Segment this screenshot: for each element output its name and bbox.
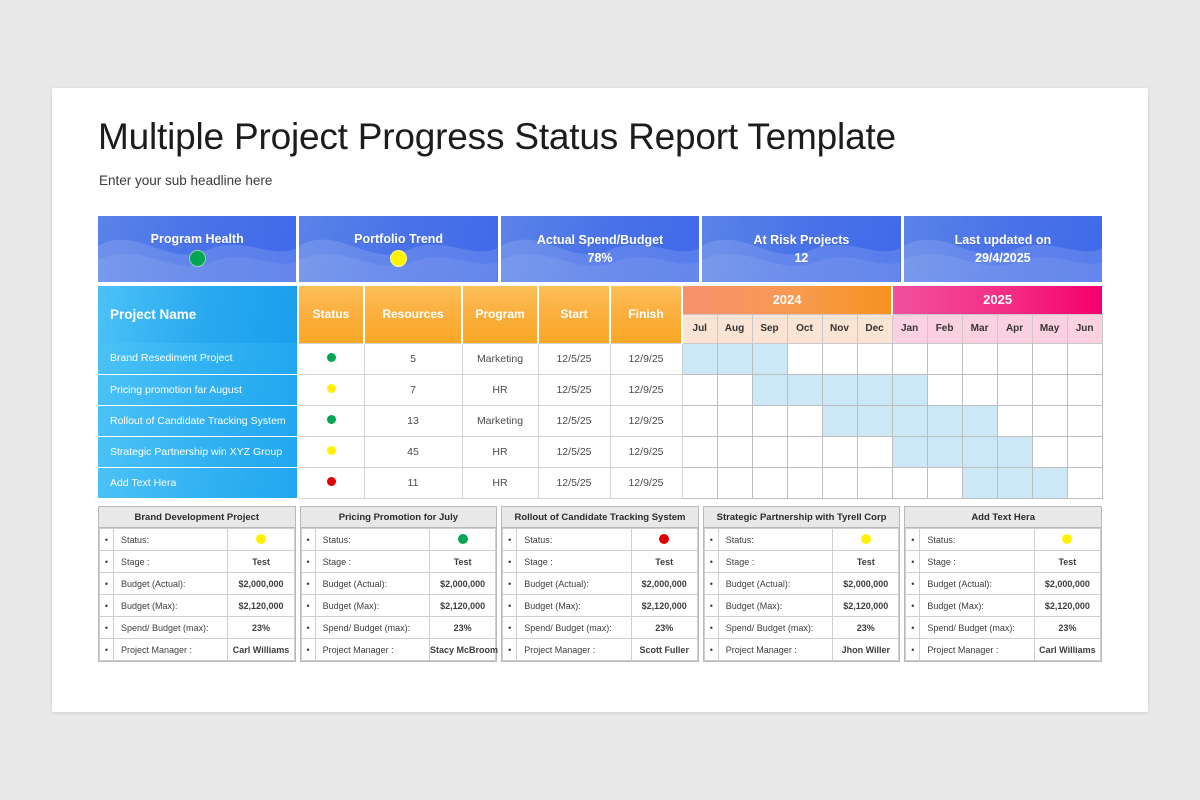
detail-label: Status: [920, 529, 1034, 551]
detail-value-spend-budget: 23% [228, 617, 294, 639]
detail-card-row: •Status: [100, 529, 295, 551]
gantt-row[interactable]: Brand Resediment Project5Marketing12/5/2… [98, 343, 1102, 374]
detail-label: Spend/ Budget (max): [718, 617, 832, 639]
gantt-program-cell: Marketing [462, 343, 538, 374]
header-status[interactable]: Status [298, 286, 364, 343]
gantt-empty-cell [1032, 436, 1067, 467]
gantt-project-name[interactable]: Pricing promotion far August [98, 374, 298, 405]
project-detail-card-row: Brand Development Project•Status:•Stage … [98, 506, 1102, 662]
bullet-icon: • [301, 573, 315, 595]
gantt-empty-cell [892, 467, 927, 498]
detail-card-row: •Status: [503, 529, 698, 551]
detail-card-row: •Budget (Actual):$2,000,000 [301, 573, 496, 595]
gantt-table: Project Name Status Resources Program St… [98, 286, 1103, 499]
detail-label: Spend/ Budget (max): [920, 617, 1034, 639]
gantt-row[interactable]: Pricing promotion far August7HR12/5/2512… [98, 374, 1102, 405]
header-month-aug-2024: Aug [717, 314, 752, 343]
header-year-2025: 2025 [892, 286, 1102, 314]
detail-value-budget-max: $2,120,000 [228, 595, 294, 617]
bullet-icon: • [704, 639, 718, 661]
kpi-status-dot-yellow [390, 250, 407, 267]
header-month-jul-2024: Jul [682, 314, 717, 343]
detail-card-row: •Budget (Max):$2,120,000 [100, 595, 295, 617]
detail-value-budget-max: $2,120,000 [1034, 595, 1100, 617]
kpi-label: Actual Spend/Budget [537, 233, 663, 247]
gantt-bar-segment [997, 436, 1032, 467]
kpi-card-row: Program HealthPortfolio TrendActual Spen… [98, 216, 1102, 282]
bullet-icon: • [301, 639, 315, 661]
gantt-empty-cell [1032, 374, 1067, 405]
gantt-start-cell: 12/5/25 [538, 374, 610, 405]
detail-value-project-manager: Stacy McBroom [430, 639, 496, 661]
page-title: Multiple Project Progress Status Report … [98, 116, 896, 158]
gantt-table-wrapper: Project Name Status Resources Program St… [98, 286, 1102, 499]
gantt-bar-segment [962, 405, 997, 436]
gantt-empty-cell [962, 343, 997, 374]
detail-status-dot-yellow [833, 529, 899, 551]
detail-status-dot-red [631, 529, 697, 551]
gantt-header-row-years: Project Name Status Resources Program St… [98, 286, 1102, 314]
detail-value-budget-actual: $2,000,000 [1034, 573, 1100, 595]
detail-label: Budget (Actual): [920, 573, 1034, 595]
detail-label: Spend/ Budget (max): [315, 617, 429, 639]
bullet-icon: • [100, 551, 114, 573]
detail-card-row: •Stage :Test [100, 551, 295, 573]
gantt-resources-cell: 13 [364, 405, 462, 436]
detail-value-project-manager: Carl Williams [1034, 639, 1100, 661]
gantt-row[interactable]: Strategic Partnership win XYZ Group45HR1… [98, 436, 1102, 467]
gantt-empty-cell [1067, 467, 1102, 498]
wave-decoration [299, 216, 497, 282]
gantt-empty-cell [1032, 343, 1067, 374]
status-dot-green [458, 534, 468, 544]
bullet-icon: • [704, 529, 718, 551]
bullet-icon: • [503, 573, 517, 595]
detail-card-row: •Stage :Test [704, 551, 899, 573]
gantt-empty-cell [857, 467, 892, 498]
detail-card-row: •Budget (Max):$2,120,000 [704, 595, 899, 617]
gantt-empty-cell [927, 374, 962, 405]
detail-label: Status: [718, 529, 832, 551]
gantt-finish-cell: 12/9/25 [610, 467, 682, 498]
detail-card-row: •Budget (Max):$2,120,000 [301, 595, 496, 617]
detail-card-table: •Status:•Stage :Test•Budget (Actual):$2,… [301, 528, 497, 661]
detail-label: Budget (Actual): [315, 573, 429, 595]
bullet-icon: • [100, 595, 114, 617]
detail-value-project-manager: Jhon Willer [833, 639, 899, 661]
detail-value-budget-actual: $2,000,000 [430, 573, 496, 595]
detail-label: Project Manager : [920, 639, 1034, 661]
header-month-may-2025: May [1032, 314, 1067, 343]
bullet-icon: • [704, 573, 718, 595]
detail-value-project-manager: Scott Fuller [631, 639, 697, 661]
kpi-value: 12 [794, 251, 808, 265]
detail-card-row: •Spend/ Budget (max):23% [100, 617, 295, 639]
detail-value-project-manager: Carl Williams [228, 639, 294, 661]
gantt-empty-cell [787, 405, 822, 436]
kpi-value: 78% [588, 251, 613, 265]
gantt-bar-segment [1032, 467, 1067, 498]
status-dot-yellow [256, 534, 266, 544]
header-program[interactable]: Program [462, 286, 538, 343]
kpi-status-dot-green [189, 250, 206, 267]
gantt-empty-cell [857, 343, 892, 374]
gantt-empty-cell [1067, 374, 1102, 405]
gantt-resources-cell: 7 [364, 374, 462, 405]
detail-card-row: •Project Manager :Carl Williams [100, 639, 295, 661]
gantt-empty-cell [997, 343, 1032, 374]
gantt-status-cell [298, 436, 364, 467]
gantt-empty-cell [1032, 405, 1067, 436]
header-start[interactable]: Start [538, 286, 610, 343]
detail-value-budget-actual: $2,000,000 [228, 573, 294, 595]
gantt-empty-cell [717, 467, 752, 498]
gantt-bar-segment [892, 405, 927, 436]
project-detail-card-4[interactable]: Strategic Partnership with Tyrell Corp•S… [703, 506, 901, 662]
gantt-status-cell [298, 343, 364, 374]
detail-card-row: •Stage :Test [301, 551, 496, 573]
header-resources[interactable]: Resources [364, 286, 462, 343]
gantt-bar-segment [997, 467, 1032, 498]
gantt-bar-segment [822, 374, 857, 405]
gantt-start-cell: 12/5/25 [538, 436, 610, 467]
kpi-card-1[interactable]: Program Health [98, 216, 296, 282]
gantt-program-cell: HR [462, 374, 538, 405]
gantt-empty-cell [927, 467, 962, 498]
gantt-empty-cell [997, 405, 1032, 436]
project-detail-card-2[interactable]: Pricing Promotion for July•Status:•Stage… [300, 506, 498, 662]
slide-canvas: Multiple Project Progress Status Report … [52, 88, 1148, 712]
detail-value-budget-max: $2,120,000 [833, 595, 899, 617]
header-month-apr-2025: Apr [997, 314, 1032, 343]
detail-card-table: •Status:•Stage :Test•Budget (Actual):$2,… [99, 528, 295, 661]
detail-card-row: •Stage :Test [906, 551, 1101, 573]
gantt-empty-cell [962, 374, 997, 405]
header-month-oct-2024: Oct [787, 314, 822, 343]
gantt-empty-cell [997, 374, 1032, 405]
detail-value-spend-budget: 23% [1034, 617, 1100, 639]
kpi-label: At Risk Projects [753, 233, 849, 247]
detail-label: Stage : [114, 551, 228, 573]
gantt-empty-cell [787, 436, 822, 467]
gantt-finish-cell: 12/9/25 [610, 343, 682, 374]
detail-value-budget-actual: $2,000,000 [833, 573, 899, 595]
bullet-icon: • [704, 595, 718, 617]
gantt-table-body: Brand Resediment Project5Marketing12/5/2… [98, 343, 1102, 498]
gantt-empty-cell [682, 467, 717, 498]
header-month-jun-2025: Jun [1067, 314, 1102, 343]
detail-card-row: •Budget (Max):$2,120,000 [503, 595, 698, 617]
detail-label: Stage : [517, 551, 631, 573]
detail-status-dot-yellow [228, 529, 294, 551]
detail-card-row: •Status: [301, 529, 496, 551]
gantt-project-name[interactable]: Strategic Partnership win XYZ Group [98, 436, 298, 467]
detail-card-table: •Status:•Stage :Test•Budget (Actual):$2,… [502, 528, 698, 661]
wave-decoration [904, 216, 1102, 282]
kpi-card-2[interactable]: Portfolio Trend [299, 216, 497, 282]
gantt-start-cell: 12/5/25 [538, 343, 610, 374]
detail-value-stage: Test [430, 551, 496, 573]
status-dot-yellow [327, 446, 336, 455]
detail-value-budget-max: $2,120,000 [631, 595, 697, 617]
gantt-status-cell [298, 467, 364, 498]
gantt-empty-cell [927, 343, 962, 374]
header-month-dec-2024: Dec [857, 314, 892, 343]
bullet-icon: • [301, 529, 315, 551]
gantt-bar-segment [857, 405, 892, 436]
status-dot-yellow [1062, 534, 1072, 544]
bullet-icon: • [704, 617, 718, 639]
detail-value-budget-actual: $2,000,000 [631, 573, 697, 595]
gantt-bar-segment [787, 374, 822, 405]
wave-decoration [501, 216, 699, 282]
detail-label: Budget (Max): [114, 595, 228, 617]
detail-card-title: Brand Development Project [99, 507, 295, 528]
gantt-empty-cell [787, 343, 822, 374]
gantt-program-cell: HR [462, 467, 538, 498]
gantt-start-cell: 12/5/25 [538, 405, 610, 436]
gantt-empty-cell [892, 343, 927, 374]
detail-label: Project Manager : [718, 639, 832, 661]
gantt-empty-cell [682, 405, 717, 436]
gantt-project-name[interactable]: Rollout of Candidate Tracking System [98, 405, 298, 436]
kpi-value: 29/4/2025 [975, 251, 1031, 265]
gantt-empty-cell [1067, 436, 1102, 467]
header-month-jan-2025: Jan [892, 314, 927, 343]
gantt-bar-segment [752, 343, 787, 374]
detail-card-row: •Status: [704, 529, 899, 551]
bullet-icon: • [100, 529, 114, 551]
header-month-mar-2025: Mar [962, 314, 997, 343]
gantt-empty-cell [682, 436, 717, 467]
detail-card-title: Rollout of Candidate Tracking System [502, 507, 698, 528]
gantt-bar-segment [892, 436, 927, 467]
bullet-icon: • [503, 639, 517, 661]
detail-label: Budget (Max): [517, 595, 631, 617]
gantt-empty-cell [822, 436, 857, 467]
kpi-label: Portfolio Trend [354, 232, 443, 246]
gantt-empty-cell [1067, 405, 1102, 436]
detail-card-table: •Status:•Stage :Test•Budget (Actual):$2,… [905, 528, 1101, 661]
project-detail-card-1[interactable]: Brand Development Project•Status:•Stage … [98, 506, 296, 662]
kpi-label: Program Health [151, 232, 244, 246]
detail-card-title: Pricing Promotion for July [301, 507, 497, 528]
gantt-project-name[interactable]: Brand Resediment Project [98, 343, 298, 374]
gantt-bar-segment [717, 343, 752, 374]
detail-value-stage: Test [833, 551, 899, 573]
detail-label: Spend/ Budget (max): [517, 617, 631, 639]
status-dot-yellow [861, 534, 871, 544]
detail-status-dot-green [430, 529, 496, 551]
detail-card-row: •Budget (Actual):$2,000,000 [100, 573, 295, 595]
gantt-empty-cell [717, 405, 752, 436]
gantt-empty-cell [752, 405, 787, 436]
gantt-bar-segment [962, 467, 997, 498]
detail-value-spend-budget: 23% [430, 617, 496, 639]
status-dot-red [327, 477, 336, 486]
bullet-icon: • [503, 529, 517, 551]
header-month-sep-2024: Sep [752, 314, 787, 343]
header-project-name[interactable]: Project Name [98, 286, 298, 343]
detail-card-row: •Budget (Actual):$2,000,000 [704, 573, 899, 595]
detail-card-row: •Project Manager :Carl Williams [906, 639, 1101, 661]
bullet-icon: • [906, 639, 920, 661]
detail-value-spend-budget: 23% [833, 617, 899, 639]
project-detail-card-3[interactable]: Rollout of Candidate Tracking System•Sta… [501, 506, 699, 662]
bullet-icon: • [301, 617, 315, 639]
detail-value-spend-budget: 23% [631, 617, 697, 639]
detail-label: Spend/ Budget (max): [114, 617, 228, 639]
detail-card-row: •Spend/ Budget (max):23% [906, 617, 1101, 639]
detail-label: Project Manager : [517, 639, 631, 661]
gantt-row[interactable]: Rollout of Candidate Tracking System13Ma… [98, 405, 1102, 436]
detail-card-row: •Spend/ Budget (max):23% [704, 617, 899, 639]
gantt-finish-cell: 12/9/25 [610, 405, 682, 436]
gantt-empty-cell [717, 436, 752, 467]
header-finish[interactable]: Finish [610, 286, 682, 343]
detail-label: Budget (Max): [920, 595, 1034, 617]
gantt-project-name[interactable]: Add Text Hera [98, 467, 298, 498]
status-dot-yellow [327, 384, 336, 393]
detail-label: Budget (Max): [718, 595, 832, 617]
bullet-icon: • [503, 551, 517, 573]
gantt-finish-cell: 12/9/25 [610, 436, 682, 467]
detail-label: Stage : [920, 551, 1034, 573]
detail-card-row: •Spend/ Budget (max):23% [503, 617, 698, 639]
detail-card-row: •Project Manager :Stacy McBroom [301, 639, 496, 661]
bullet-icon: • [906, 595, 920, 617]
header-month-nov-2024: Nov [822, 314, 857, 343]
detail-value-stage: Test [1034, 551, 1100, 573]
page-subtitle: Enter your sub headline here [99, 173, 272, 188]
gantt-bar-segment [857, 374, 892, 405]
detail-label: Budget (Max): [315, 595, 429, 617]
gantt-bar-segment [682, 343, 717, 374]
gantt-bar-segment [927, 405, 962, 436]
gantt-row[interactable]: Add Text Hera11HR12/5/2512/9/25 [98, 467, 1102, 498]
detail-label: Budget (Actual): [517, 573, 631, 595]
bullet-icon: • [301, 595, 315, 617]
detail-card-table: •Status:•Stage :Test•Budget (Actual):$2,… [704, 528, 900, 661]
gantt-table-head: Project Name Status Resources Program St… [98, 286, 1102, 343]
detail-card-row: •Budget (Max):$2,120,000 [906, 595, 1101, 617]
gantt-start-cell: 12/5/25 [538, 467, 610, 498]
detail-label: Project Manager : [315, 639, 429, 661]
gantt-program-cell: Marketing [462, 405, 538, 436]
project-detail-card-5[interactable]: Add Text Hera•Status:•Stage :Test•Budget… [904, 506, 1102, 662]
kpi-label: Last updated on [955, 233, 1052, 247]
detail-label: Status: [114, 529, 228, 551]
bullet-icon: • [100, 573, 114, 595]
gantt-empty-cell [857, 436, 892, 467]
gantt-empty-cell [682, 374, 717, 405]
gantt-bar-segment [962, 436, 997, 467]
bullet-icon: • [503, 595, 517, 617]
gantt-bar-segment [752, 374, 787, 405]
detail-card-row: •Stage :Test [503, 551, 698, 573]
detail-label: Stage : [718, 551, 832, 573]
detail-status-dot-yellow [1034, 529, 1100, 551]
status-dot-green [327, 353, 336, 362]
gantt-resources-cell: 11 [364, 467, 462, 498]
detail-label: Status: [315, 529, 429, 551]
kpi-card-4[interactable]: At Risk Projects12 [702, 216, 900, 282]
gantt-bar-segment [927, 436, 962, 467]
gantt-resources-cell: 45 [364, 436, 462, 467]
detail-value-budget-max: $2,120,000 [430, 595, 496, 617]
gantt-resources-cell: 5 [364, 343, 462, 374]
gantt-empty-cell [787, 467, 822, 498]
detail-label: Budget (Actual): [718, 573, 832, 595]
bullet-icon: • [906, 617, 920, 639]
gantt-empty-cell [1067, 343, 1102, 374]
bullet-icon: • [301, 551, 315, 573]
detail-card-row: •Project Manager :Jhon Willer [704, 639, 899, 661]
gantt-empty-cell [717, 374, 752, 405]
gantt-bar-segment [892, 374, 927, 405]
detail-label: Stage : [315, 551, 429, 573]
detail-label: Budget (Actual): [114, 573, 228, 595]
detail-card-row: •Budget (Actual):$2,000,000 [906, 573, 1101, 595]
kpi-card-5[interactable]: Last updated on29/4/2025 [904, 216, 1102, 282]
gantt-program-cell: HR [462, 436, 538, 467]
detail-card-row: •Budget (Actual):$2,000,000 [503, 573, 698, 595]
wave-decoration [702, 216, 900, 282]
header-year-2024: 2024 [682, 286, 892, 314]
kpi-card-3[interactable]: Actual Spend/Budget78% [501, 216, 699, 282]
gantt-empty-cell [822, 343, 857, 374]
detail-card-title: Add Text Hera [905, 507, 1101, 528]
status-dot-green [327, 415, 336, 424]
bullet-icon: • [100, 617, 114, 639]
bullet-icon: • [503, 617, 517, 639]
detail-card-row: •Status: [906, 529, 1101, 551]
gantt-empty-cell [752, 467, 787, 498]
detail-value-stage: Test [228, 551, 294, 573]
header-month-feb-2025: Feb [927, 314, 962, 343]
detail-label: Status: [517, 529, 631, 551]
detail-card-row: •Project Manager :Scott Fuller [503, 639, 698, 661]
bullet-icon: • [100, 639, 114, 661]
bullet-icon: • [906, 573, 920, 595]
detail-card-row: •Spend/ Budget (max):23% [301, 617, 496, 639]
status-dot-red [659, 534, 669, 544]
bullet-icon: • [704, 551, 718, 573]
gantt-status-cell [298, 405, 364, 436]
gantt-empty-cell [752, 436, 787, 467]
detail-label: Project Manager : [114, 639, 228, 661]
detail-card-title: Strategic Partnership with Tyrell Corp [704, 507, 900, 528]
detail-value-stage: Test [631, 551, 697, 573]
bullet-icon: • [906, 529, 920, 551]
bullet-icon: • [906, 551, 920, 573]
gantt-finish-cell: 12/9/25 [610, 374, 682, 405]
gantt-bar-segment [822, 405, 857, 436]
gantt-empty-cell [822, 467, 857, 498]
gantt-status-cell [298, 374, 364, 405]
